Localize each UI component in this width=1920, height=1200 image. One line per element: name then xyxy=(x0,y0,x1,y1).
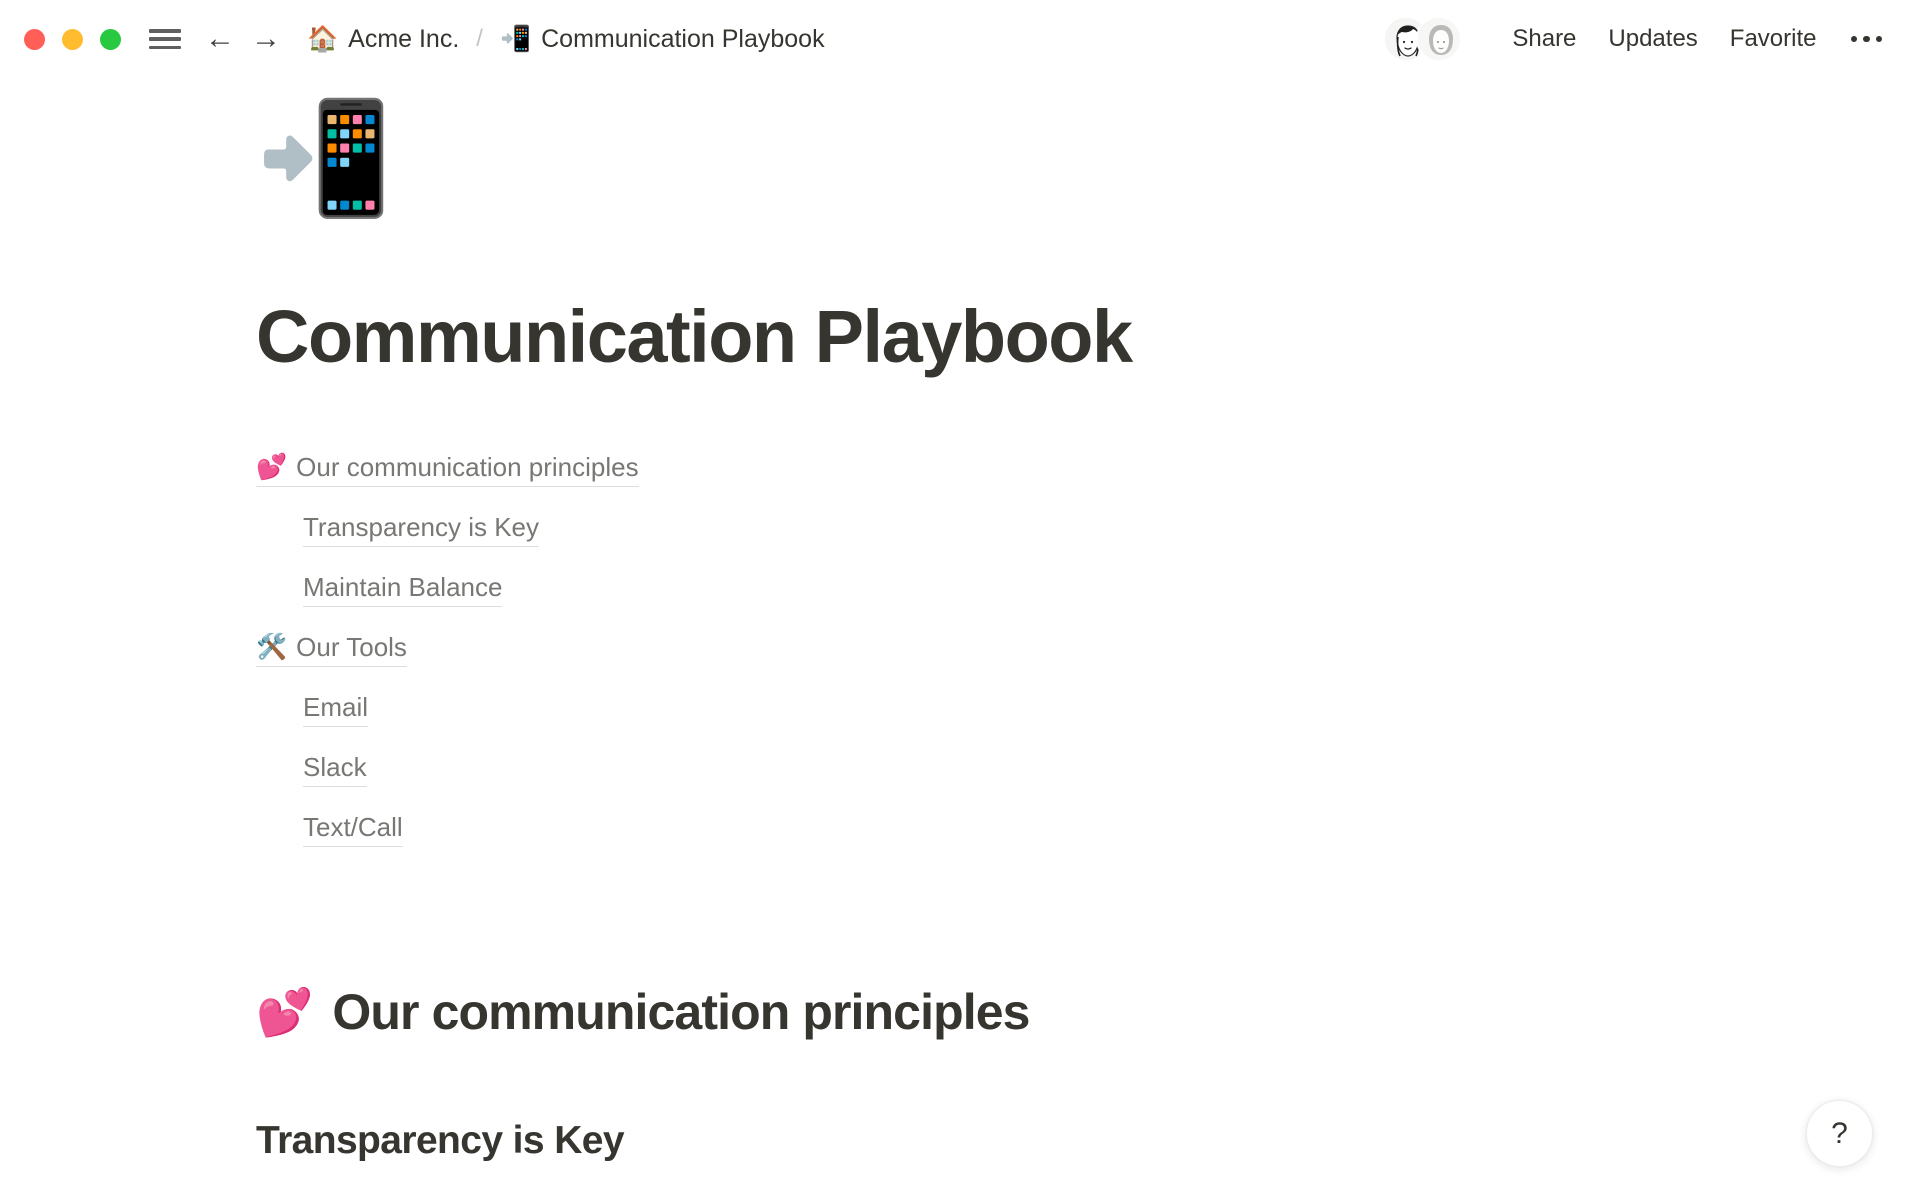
collaborator-avatars[interactable] xyxy=(1383,16,1462,62)
toc-label: Slack xyxy=(303,752,367,783)
share-button[interactable]: Share xyxy=(1496,19,1592,59)
toc-label: Our Tools xyxy=(296,632,407,663)
breadcrumb-item-workspace[interactable]: 🏠 Acme Inc. xyxy=(307,25,459,54)
mobile-phone-with-arrow-icon: 📲 xyxy=(256,104,393,214)
toc-item-our-tools[interactable]: 🛠️ Our Tools xyxy=(256,619,1656,679)
page-content: 📲 Communication Playbook 💕 Our communica… xyxy=(256,104,1656,1163)
top-toolbar: ← → 🏠 Acme Inc. / 📲 Communication Playbo… xyxy=(0,0,1920,78)
toc-item-email[interactable]: Email xyxy=(256,679,1656,739)
hamburger-menu-icon[interactable] xyxy=(149,27,181,51)
toc-item-our-communication-principles[interactable]: 💕 Our communication principles xyxy=(256,439,1656,499)
back-arrow-icon[interactable]: ← xyxy=(203,22,237,56)
toc-link[interactable]: 🛠️ Our Tools xyxy=(256,632,407,667)
toc-link[interactable]: Slack xyxy=(303,752,367,787)
toc-item-transparency-is-key[interactable]: Transparency is Key xyxy=(256,499,1656,559)
close-window-button[interactable] xyxy=(24,29,45,50)
toc-link[interactable]: Text/Call xyxy=(303,812,403,847)
app-window: ← → 🏠 Acme Inc. / 📲 Communication Playbo… xyxy=(0,0,1920,1200)
page-icon[interactable]: 📲 xyxy=(256,104,1656,264)
section-heading-our-communication-principles[interactable]: 💕 Our communication principles xyxy=(256,983,1656,1041)
toc-label: Maintain Balance xyxy=(303,572,502,603)
toc-label: Text/Call xyxy=(303,812,403,843)
toc-link[interactable]: Maintain Balance xyxy=(303,572,502,607)
toc-label: Transparency is Key xyxy=(303,512,539,543)
toc-link[interactable]: 💕 Our communication principles xyxy=(256,452,639,487)
house-icon: 🏠 xyxy=(307,27,338,52)
minimize-window-button[interactable] xyxy=(62,29,83,50)
two-hearts-icon: 💕 xyxy=(256,455,287,480)
hammer-and-wrench-icon: 🛠️ xyxy=(256,635,287,660)
avatar-user-2[interactable] xyxy=(1416,16,1462,62)
breadcrumb-workspace-label: Acme Inc. xyxy=(348,25,459,54)
window-controls xyxy=(24,29,121,50)
toc-link[interactable]: Email xyxy=(303,692,368,727)
page-body: 📲 Communication Playbook 💕 Our communica… xyxy=(0,78,1920,1163)
toolbar-actions: Share Updates Favorite xyxy=(1383,16,1894,62)
mobile-phone-with-arrow-icon: 📲 xyxy=(500,27,531,52)
toc-link[interactable]: Transparency is Key xyxy=(303,512,539,547)
section-heading-transparency-is-key[interactable]: Transparency is Key xyxy=(256,1119,1656,1163)
question-mark-icon: ? xyxy=(1831,1117,1848,1151)
breadcrumb-separator: / xyxy=(476,25,483,53)
maximize-window-button[interactable] xyxy=(100,29,121,50)
two-hearts-icon: 💕 xyxy=(256,989,312,1035)
breadcrumb-page-label: Communication Playbook xyxy=(541,25,824,54)
more-options-icon[interactable] xyxy=(1839,26,1895,53)
breadcrumb-item-page[interactable]: 📲 Communication Playbook xyxy=(500,25,825,54)
updates-button[interactable]: Updates xyxy=(1592,19,1713,59)
toc-item-maintain-balance[interactable]: Maintain Balance xyxy=(256,559,1656,619)
breadcrumb: 🏠 Acme Inc. / 📲 Communication Playbook xyxy=(307,25,825,54)
forward-arrow-icon[interactable]: → xyxy=(249,22,283,56)
toc-label: Email xyxy=(303,692,368,723)
toc-item-slack[interactable]: Slack xyxy=(256,739,1656,799)
help-button[interactable]: ? xyxy=(1806,1100,1873,1167)
toc-label: Our communication principles xyxy=(296,452,638,483)
avatar-illustration-2 xyxy=(1418,18,1462,62)
page-title[interactable]: Communication Playbook xyxy=(256,296,1656,377)
section-heading-label: Our communication principles xyxy=(332,983,1029,1041)
table-of-contents: 💕 Our communication principles Transpare… xyxy=(256,439,1656,859)
favorite-button[interactable]: Favorite xyxy=(1714,19,1833,59)
toc-item-text-call[interactable]: Text/Call xyxy=(256,799,1656,859)
